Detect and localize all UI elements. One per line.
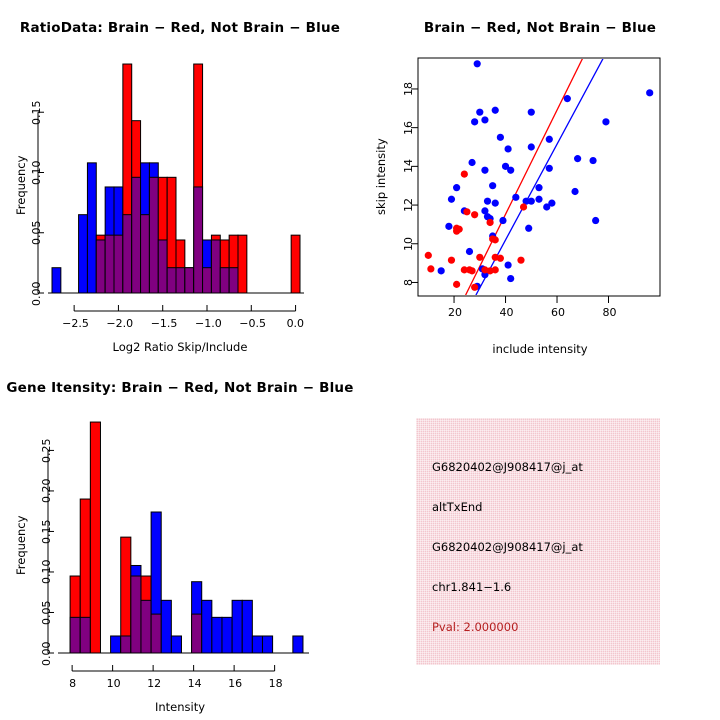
info-pvalue: Pval: 2.000000 <box>432 620 518 634</box>
histogram-bar-overlap <box>105 235 114 293</box>
scatter-point <box>499 217 506 224</box>
scatter-point <box>492 236 499 243</box>
histogram-bar-overlap <box>176 268 185 293</box>
scatter-point <box>525 225 532 232</box>
scatter-point <box>453 228 460 235</box>
x-tick-label: 8 <box>69 677 76 690</box>
x-tick-label: 60 <box>551 306 565 319</box>
histogram-bar-overlap <box>141 215 150 293</box>
scatter-point <box>512 194 519 201</box>
info-event-type: altTxEnd <box>432 500 482 514</box>
histogram-bar-overlap <box>131 576 141 653</box>
scatter-point <box>468 267 475 274</box>
scatter-point <box>548 200 555 207</box>
scatter-point <box>463 208 470 215</box>
histogram-bar-overlap <box>96 240 105 293</box>
figure-root: RatioData: Brain − Red, Not Brain − Blue… <box>0 0 720 720</box>
scatter-point <box>474 60 481 67</box>
y-tick-label: 0.00 <box>40 641 53 666</box>
y-tick-label: 0.15 <box>30 100 43 125</box>
x-tick-label: 20 <box>448 306 462 319</box>
scatter-point <box>445 223 452 230</box>
histogram-bar-overlap <box>211 240 220 293</box>
y-tick-label: 0.25 <box>40 438 53 463</box>
histogram-bar-overlap <box>141 600 151 653</box>
scatter-point <box>571 188 578 195</box>
scatter-point <box>476 109 483 116</box>
histogram-bar <box>79 215 88 293</box>
scatter-point <box>453 184 460 191</box>
scatter-point <box>528 143 535 150</box>
histogram-bar-overlap <box>229 268 238 293</box>
y-tick-label: 16 <box>402 121 415 135</box>
y-tick-label: 0.15 <box>40 519 53 544</box>
histogram-bar <box>252 636 262 653</box>
histogram-bar <box>161 600 171 653</box>
y-tick-label: 0.00 <box>30 281 43 306</box>
x-tick-label: 12 <box>147 677 161 690</box>
histogram-bar <box>212 617 222 653</box>
histogram-bar-overlap <box>80 617 90 653</box>
gene-histogram-xlabel: Intensity <box>0 700 360 714</box>
scatter-point <box>505 261 512 268</box>
scatter-point <box>574 155 581 162</box>
scatter-point <box>497 255 504 262</box>
scatter-point <box>471 284 478 291</box>
x-tick-label: 14 <box>188 677 202 690</box>
histogram-bar-overlap <box>151 614 161 653</box>
panel-ratio-histogram: RatioData: Brain − Red, Not Brain − Blue… <box>0 0 360 360</box>
gene-info-panel: G6820402@J908417@j_at altTxEnd G6820402@… <box>416 418 660 665</box>
histogram-bar-overlap <box>149 177 158 293</box>
x-tick-label: −2.5 <box>62 317 89 330</box>
scatter-point <box>492 107 499 114</box>
histogram-bar <box>262 636 272 653</box>
histogram-bar <box>111 636 121 653</box>
panel-gene-histogram: Gene Itensity: Brain − Red, Not Brain − … <box>0 360 360 720</box>
info-chromosome-location: chr1.841−1.6 <box>432 580 511 594</box>
histogram-bar <box>202 600 212 653</box>
x-tick-label: 10 <box>107 677 121 690</box>
scatter-point <box>646 89 653 96</box>
histogram-bar-overlap <box>132 177 141 293</box>
scatter-point <box>471 118 478 125</box>
x-tick-label: −1.5 <box>151 317 178 330</box>
histogram-bar <box>222 617 232 653</box>
scatter-point <box>497 134 504 141</box>
y-tick-label: 0.05 <box>40 600 53 625</box>
scatter-point <box>535 184 542 191</box>
scatter-point <box>489 182 496 189</box>
histogram-bar-overlap <box>114 235 123 293</box>
scatter-point <box>453 281 460 288</box>
scatter-point <box>476 254 483 261</box>
histogram-bar-overlap <box>167 268 176 293</box>
histogram-bar-overlap <box>121 636 131 653</box>
scatter-point <box>438 267 445 274</box>
scatter-point <box>425 252 432 259</box>
x-tick-label: −1.0 <box>195 317 222 330</box>
histogram-bar-overlap <box>203 268 212 293</box>
y-tick-label: 0.10 <box>30 160 43 185</box>
info-probeset-id-secondary: G6820402@J908417@j_at <box>432 540 583 554</box>
scatter-point <box>486 219 493 226</box>
histogram-bar-overlap <box>123 215 132 293</box>
y-tick-label: 0.20 <box>40 479 53 504</box>
scatter-point <box>461 170 468 177</box>
scatter-point <box>546 165 553 172</box>
scatter-point <box>535 196 542 203</box>
scatter-point <box>481 116 488 123</box>
x-tick-label: 80 <box>603 306 617 319</box>
scatter-point <box>505 145 512 152</box>
histogram-bar <box>291 235 300 293</box>
scatter-point <box>468 159 475 166</box>
scatter-point <box>507 167 514 174</box>
info-probeset-id-primary: G6820402@J908417@j_at <box>432 460 583 474</box>
scatter-point <box>492 266 499 273</box>
scatter-point <box>592 217 599 224</box>
scatter-point <box>602 118 609 125</box>
scatter-point <box>492 200 499 207</box>
x-tick-label: 40 <box>500 306 514 319</box>
scatter-point <box>528 198 535 205</box>
panel-scatter: Brain − Red, Not Brain − Blue skip inten… <box>360 0 720 360</box>
histogram-bar <box>90 422 100 653</box>
x-tick-label: 16 <box>228 677 242 690</box>
scatter-point <box>520 203 527 210</box>
y-tick-label: 18 <box>402 82 415 96</box>
scatter-point <box>448 257 455 264</box>
x-tick-label: 0.0 <box>287 317 305 330</box>
histogram-bar-overlap <box>70 617 80 653</box>
y-tick-label: 12 <box>402 198 415 212</box>
scatter-point <box>507 275 514 282</box>
scatter-point <box>564 95 571 102</box>
x-tick-label: −2.0 <box>106 317 133 330</box>
histogram-bar-overlap <box>192 614 202 653</box>
scatter-point <box>546 136 553 143</box>
histogram-bar-overlap <box>220 268 229 293</box>
x-tick-label: 18 <box>269 677 283 690</box>
y-tick-label: 10 <box>402 237 415 251</box>
histogram-bar <box>238 235 247 293</box>
scatter-point <box>471 211 478 218</box>
y-tick-label: 0.10 <box>40 560 53 585</box>
scatter-xlabel: include intensity <box>360 342 720 356</box>
histogram-bar <box>171 636 181 653</box>
histogram-bar-overlap <box>158 240 167 293</box>
histogram-bar <box>242 600 252 653</box>
y-tick-label: 14 <box>402 159 415 173</box>
y-tick-label: 0.05 <box>30 221 43 246</box>
histogram-bar-overlap <box>185 268 194 293</box>
x-tick-label: −0.5 <box>239 317 266 330</box>
scatter-point <box>589 157 596 164</box>
scatter-point <box>466 248 473 255</box>
ratio-histogram-xlabel: Log2 Ratio Skip/Include <box>0 340 360 354</box>
ratio-histogram-plot <box>0 0 360 330</box>
histogram-bar <box>232 600 242 653</box>
histogram-bar <box>87 163 96 293</box>
scatter-point <box>481 167 488 174</box>
histogram-bar-overlap <box>194 187 203 293</box>
scatter-point <box>427 265 434 272</box>
gene-histogram-plot <box>0 360 360 690</box>
scatter-point <box>448 196 455 203</box>
scatter-point <box>484 198 491 205</box>
scatter-point <box>528 109 535 116</box>
y-tick-label: 8 <box>402 279 415 286</box>
scatter-point <box>517 257 524 264</box>
histogram-bar <box>293 636 303 653</box>
histogram-bar <box>52 268 61 293</box>
